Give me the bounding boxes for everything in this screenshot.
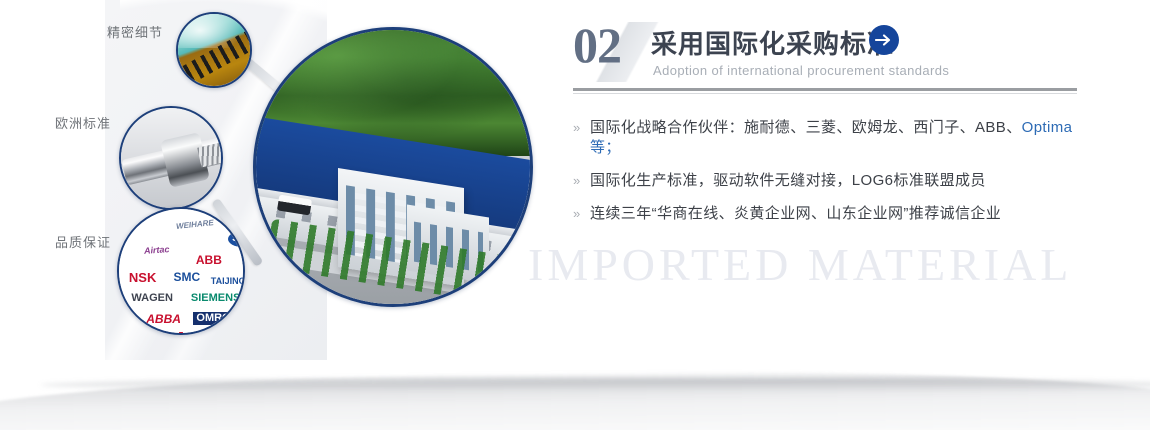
bullet-list: »国际化战略合作伙伴：施耐德、三菱、欧姆龙、西门子、ABB、Optima等；»国… bbox=[573, 118, 1093, 237]
arrow-right-icon[interactable] bbox=[869, 25, 899, 55]
brand-logo: SIEMENS bbox=[191, 293, 241, 304]
brand-logo: SKF bbox=[228, 231, 245, 247]
label-quality-assurance: 品质保证 bbox=[55, 232, 111, 251]
ball-screw-image bbox=[121, 108, 221, 208]
header-divider-thin bbox=[573, 93, 1077, 94]
brand-logo: NSK bbox=[129, 271, 156, 284]
watermark-text: IMPORTED MATERIAL bbox=[528, 238, 1072, 291]
section-number: 02 bbox=[573, 16, 621, 74]
bottom-shadow-sweep bbox=[0, 365, 1150, 430]
label-precision: 精密细节 bbox=[107, 22, 163, 41]
header-divider bbox=[573, 88, 1077, 91]
brand-logo-list: WEIHARESKFAirtacABBNSKSMCTAIJINGWAGENSIE… bbox=[119, 209, 243, 333]
magnifier-european-standard bbox=[119, 106, 223, 210]
brand-logo: SMC bbox=[174, 271, 201, 283]
brand-logo: Airtac bbox=[144, 245, 170, 256]
section-header: 02 采用国际化采购标准 Adoption of international p… bbox=[573, 18, 1093, 90]
brand-logo: ABBA bbox=[146, 313, 181, 325]
chevron-right-icon: » bbox=[573, 204, 590, 224]
brand-logo: ABB bbox=[196, 254, 222, 266]
section-title-cn: 采用国际化采购标准 bbox=[651, 24, 894, 61]
factory-aerial-photo bbox=[256, 30, 530, 304]
promo-banner: 精密细节 欧洲标准 品质保证 WEIHARESKFAirtacABBNSKSMC… bbox=[0, 0, 1150, 430]
magnifier-precision-detail bbox=[176, 12, 252, 88]
bottom-shadow-line bbox=[40, 378, 1150, 392]
magnifier-brand-logos: WEIHARESKFAirtacABBNSKSMCTAIJINGWAGENSIE… bbox=[117, 207, 245, 335]
bullet-text: 连续三年“华商在线、炎黄企业网、山东企业网”推荐诚信企业 bbox=[590, 204, 1001, 224]
bullet-text: 国际化战略合作伙伴：施耐德、三菱、欧姆龙、西门子、ABB、Optima等； bbox=[590, 118, 1093, 158]
gear-rack-image bbox=[178, 14, 250, 86]
brand-logo: WEIHARE bbox=[176, 219, 214, 231]
brand-logo: TAIJING bbox=[211, 277, 245, 286]
factory-photo-circle bbox=[253, 27, 533, 307]
bullet-item: »连续三年“华商在线、炎黄企业网、山东企业网”推荐诚信企业 bbox=[573, 204, 1093, 224]
bullet-text-plain: 连续三年“华商在线、炎黄企业网、山东企业网”推荐诚信企业 bbox=[590, 205, 1001, 222]
section-title-en: Adoption of international procurement st… bbox=[653, 63, 949, 78]
brand-logo: WAGEN bbox=[131, 293, 173, 304]
brand-logo: OMRON bbox=[193, 312, 241, 325]
bullet-text-plain: 国际化战略合作伙伴：施耐德、三菱、欧姆龙、西门子、ABB、 bbox=[590, 119, 1022, 136]
brand-logo-collage: WEIHARESKFAirtacABBNSKSMCTAIJINGWAGENSIE… bbox=[119, 209, 243, 333]
bullet-text-plain: 国际化生产标准，驱动软件无缝对接，LOG6标准联盟成员 bbox=[590, 172, 986, 189]
chevron-right-icon: » bbox=[573, 118, 590, 138]
bullet-item: »国际化生产标准，驱动软件无缝对接，LOG6标准联盟成员 bbox=[573, 171, 1093, 191]
content-column: 02 采用国际化采购标准 Adoption of international p… bbox=[573, 18, 1093, 90]
bullet-item: »国际化战略合作伙伴：施耐德、三菱、欧姆龙、西门子、ABB、Optima等； bbox=[573, 118, 1093, 158]
bullet-text: 国际化生产标准，驱动软件无缝对接，LOG6标准联盟成员 bbox=[590, 171, 986, 191]
label-european-standard: 欧洲标准 bbox=[55, 113, 111, 132]
chevron-right-icon: » bbox=[573, 171, 590, 191]
